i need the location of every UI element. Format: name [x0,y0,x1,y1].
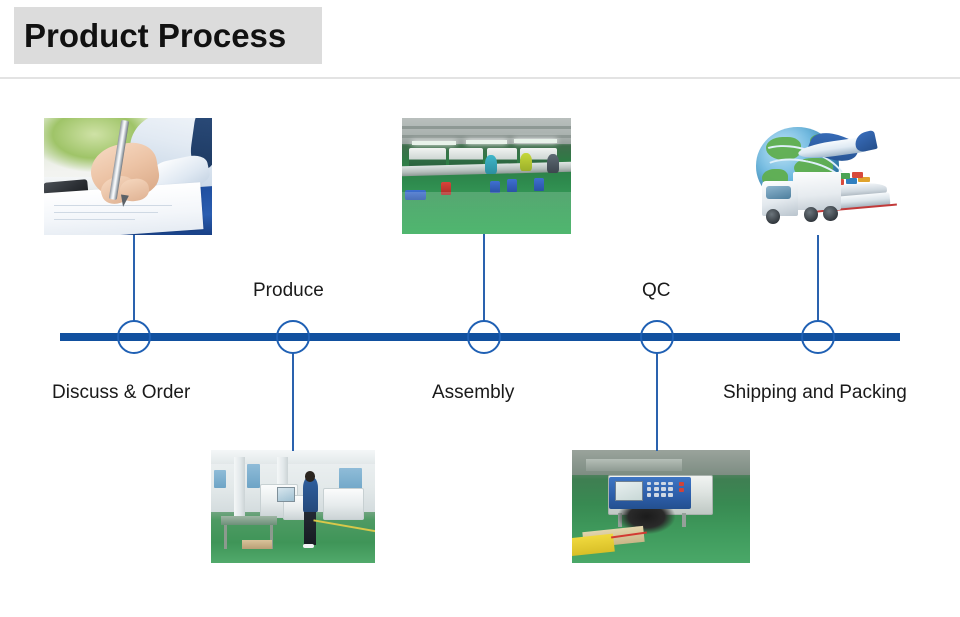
photo-assembly [402,118,571,234]
timeline-node-discuss-order[interactable] [117,320,151,354]
connector-produce [292,353,294,451]
timeline-label-assembly: Assembly [432,383,514,402]
timeline-label-qc: QC [642,281,671,300]
connector-qc [656,353,658,451]
page-title-box: Product Process [14,7,322,64]
slide-canvas: Product Process [0,0,960,617]
timeline-node-shipping-packing[interactable] [801,320,835,354]
header-divider [0,77,960,79]
photo-produce [211,450,375,563]
timeline-node-qc[interactable] [640,320,674,354]
photo-discuss-order [44,118,212,235]
timeline-label-shipping-packing: Shipping and Packing [723,383,907,402]
connector-assembly [483,234,485,321]
photo-shipping-packing [740,118,900,235]
connector-shipping-packing [817,235,819,321]
page-title: Product Process [14,19,286,52]
timeline-label-produce: Produce [253,281,324,300]
connector-discuss-order [133,235,135,321]
timeline-node-assembly[interactable] [467,320,501,354]
timeline-node-produce[interactable] [276,320,310,354]
photo-qc [572,450,750,563]
timeline-label-discuss-order: Discuss & Order [52,383,190,402]
